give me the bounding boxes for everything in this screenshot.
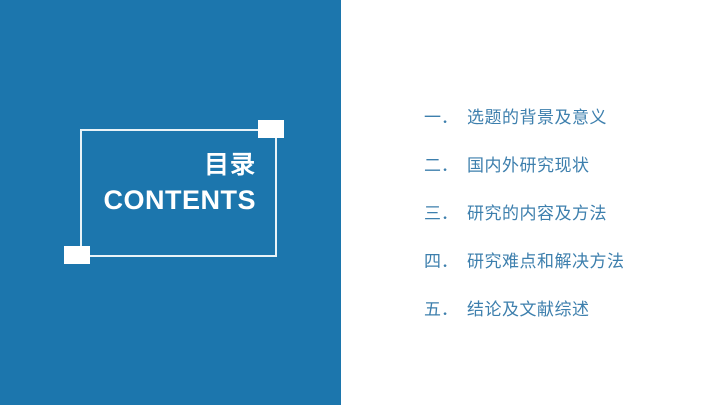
- title-block: 目录 CONTENTS: [60, 150, 256, 217]
- list-item[interactable]: 二． 国内外研究现状: [424, 151, 684, 199]
- frame-corner-square-bottom-left: [64, 246, 90, 264]
- contents-list: 一． 选题的背景及意义 二． 国内外研究现状 三． 研究的内容及方法 四． 研究…: [424, 103, 684, 343]
- frame-corner-square-top-right: [258, 120, 284, 138]
- list-item-label: 国内外研究现状: [467, 151, 590, 176]
- list-item-index: 四．: [424, 247, 458, 272]
- page-title-cn: 目录: [60, 150, 256, 180]
- list-item-index: 二．: [424, 151, 458, 176]
- list-item[interactable]: 四． 研究难点和解决方法: [424, 247, 684, 295]
- list-item[interactable]: 五． 结论及文献综述: [424, 295, 684, 343]
- list-item-label: 选题的背景及意义: [467, 103, 607, 128]
- list-item-index: 三．: [424, 199, 458, 224]
- page-title-en: CONTENTS: [60, 183, 256, 217]
- list-item[interactable]: 一． 选题的背景及意义: [424, 103, 684, 151]
- list-item-index: 五．: [424, 295, 458, 320]
- list-item-label: 研究难点和解决方法: [467, 247, 625, 272]
- list-item[interactable]: 三． 研究的内容及方法: [424, 199, 684, 247]
- list-item-label: 研究的内容及方法: [467, 199, 607, 224]
- list-item-label: 结论及文献综述: [467, 295, 590, 320]
- list-item-index: 一．: [424, 103, 458, 128]
- slide-root: 目录 CONTENTS 一． 选题的背景及意义 二． 国内外研究现状 三． 研究…: [0, 0, 720, 405]
